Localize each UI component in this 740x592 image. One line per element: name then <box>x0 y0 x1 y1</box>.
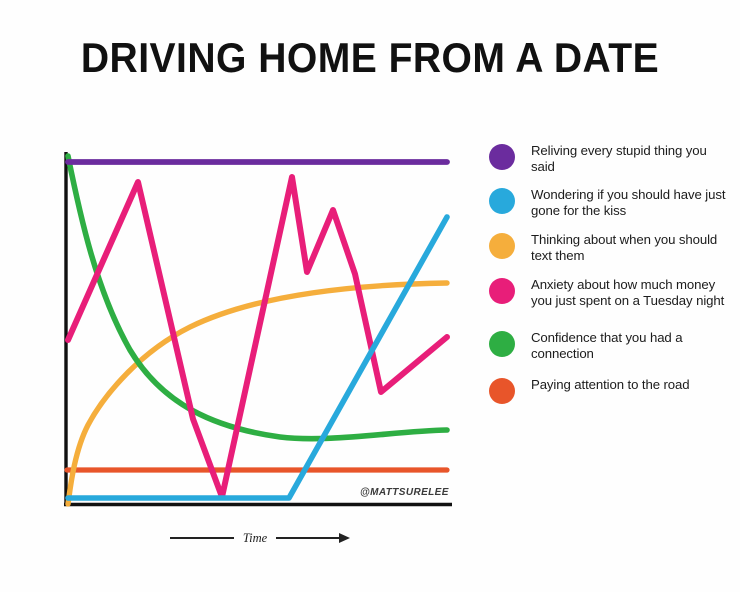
legend-item-label: Anxiety about how much money you just sp… <box>531 277 734 308</box>
legend-item: Paying attention to the road <box>489 377 734 404</box>
axis-rule-left <box>170 537 234 539</box>
arrow-right-icon <box>339 533 350 543</box>
legend-item-label: Reliving every stupid thing you said <box>531 143 734 174</box>
legend-item-label: Paying attention to the road <box>531 377 690 393</box>
legend-dot-icon <box>489 378 515 404</box>
chart-page: DRIVING HOME FROM A DATE @MATTSURELEE Ti… <box>0 0 740 592</box>
legend-item-label: Wondering if you should have just gone f… <box>531 187 734 218</box>
series-line-wondering-if-you-should-have-just-gone-for-the-kiss <box>68 217 447 498</box>
x-axis-caption: Time <box>170 527 350 549</box>
legend-dot-icon <box>489 188 515 214</box>
series-line-confidence-that-you-had-a-connection <box>68 156 447 439</box>
legend-dot-icon <box>489 233 515 259</box>
legend-item: Anxiety about how much money you just sp… <box>489 277 734 308</box>
legend-dot-icon <box>489 144 515 170</box>
legend-item-label: Confidence that you had a connection <box>531 330 734 361</box>
legend-item: Confidence that you had a connection <box>489 330 734 361</box>
x-axis-label: Time <box>243 531 267 546</box>
legend-dot-icon <box>489 331 515 357</box>
axis-rule-right <box>276 537 340 539</box>
legend-item: Wondering if you should have just gone f… <box>489 187 734 218</box>
legend-item: Reliving every stupid thing you said <box>489 143 734 174</box>
legend-item-label: Thinking about when you should text them <box>531 232 734 263</box>
legend-dot-icon <box>489 278 515 304</box>
chart-legend: Reliving every stupid thing you said Won… <box>489 143 734 417</box>
watermark-attribution: @MATTSURELEE <box>360 487 449 498</box>
legend-item: Thinking about when you should text them <box>489 232 734 263</box>
